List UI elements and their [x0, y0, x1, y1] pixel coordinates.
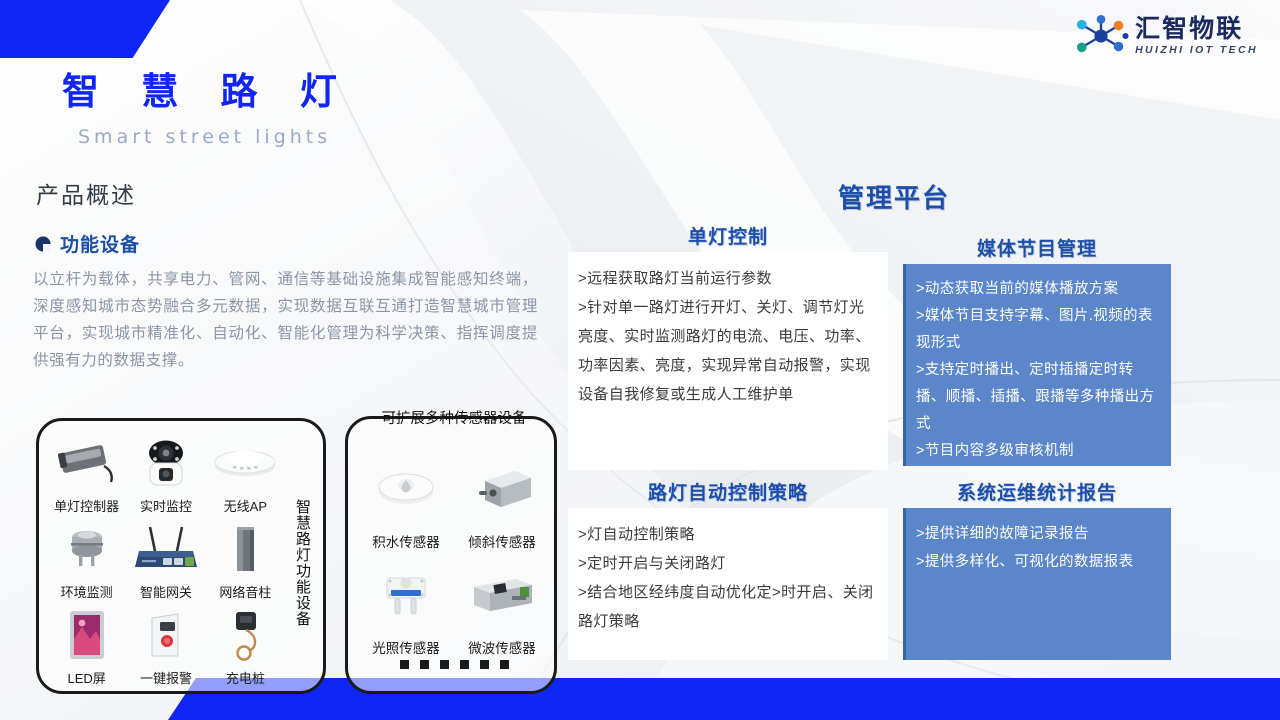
- management-platform-title: 管理平台: [838, 178, 950, 215]
- sensor-box-title: 可扩展多种传感器设备: [348, 407, 560, 428]
- sensor-item: 积水传感器: [358, 445, 454, 551]
- device-item: 充电桩: [206, 601, 285, 687]
- network-speaker-icon: [206, 515, 285, 582]
- device-item: 一键报警: [126, 601, 205, 687]
- panel-title: 单灯控制: [568, 222, 888, 249]
- brand-logo: 汇智物联 HUIZHI IOT TECH: [1073, 14, 1258, 58]
- device-caption: 智能网关: [140, 582, 192, 601]
- page-subtitle: Smart street lights: [78, 126, 331, 148]
- device-caption: 环境监测: [61, 582, 113, 601]
- wireless-ap-icon: [206, 429, 285, 496]
- panel-line: >媒体节目支持字幕、图片.视频的表现形式: [916, 303, 1159, 357]
- page-title: 智 慧 路 灯: [62, 72, 353, 113]
- section-title-product-overview: 产品概述: [36, 176, 136, 210]
- light-sensor-icon: [358, 551, 454, 637]
- device-caption: 一键报警: [140, 668, 192, 687]
- led-screen-icon: [47, 601, 126, 668]
- device-item: 无线AP: [206, 429, 285, 515]
- sensor-item: 微波传感器: [454, 551, 550, 657]
- panel-system-ops-statistics-report: 系统运维统计报告 >提供详细的故障记录报告 >提供多样化、可视化的数据报表: [903, 508, 1171, 660]
- microwave-sensor-icon: [454, 551, 550, 637]
- device-caption: 单灯控制器: [54, 496, 119, 515]
- sensor-item: 倾斜传感器: [454, 445, 550, 551]
- feature-devices-label: 功能设备: [60, 230, 140, 257]
- sensor-caption: 光照传感器: [372, 637, 440, 657]
- sensor-item: 光照传感器: [358, 551, 454, 657]
- device-item: 环境监测: [47, 515, 126, 601]
- device-item: LED屏: [47, 601, 126, 687]
- panel-line: >动态获取当前的媒体播放方案: [916, 276, 1159, 303]
- sensor-caption: 倾斜传感器: [468, 531, 536, 551]
- logo-company-name-cn: 汇智物联: [1135, 16, 1243, 42]
- device-caption: 无线AP: [224, 496, 267, 515]
- panel-body: >提供详细的故障记录报告 >提供多样化、可视化的数据报表: [903, 508, 1171, 660]
- panel-body: >远程获取路灯当前运行参数 >针对单一路灯进行开灯、关灯、调节灯光亮度、实时监测…: [568, 252, 888, 470]
- device-item: 网络音柱: [206, 515, 285, 601]
- panel-title: 路灯自动控制策略: [568, 478, 888, 505]
- cctv-camera-icon: [126, 429, 205, 496]
- panel-line: >提供多样化、可视化的数据报表: [916, 548, 1159, 576]
- logo-company-name-en: HUIZHI IOT TECH: [1135, 44, 1258, 56]
- panel-media-program-management: 媒体节目管理 >动态获取当前的媒体播放方案 >媒体节目支持字幕、图片.视频的表现…: [903, 264, 1171, 466]
- panel-body: >灯自动控制策略 >定时开启与关闭路灯 >结合地区经纬度自动优化定>时开启、关闭…: [568, 508, 888, 660]
- water-level-sensor-icon: [358, 445, 454, 531]
- device-caption: 充电桩: [226, 668, 265, 687]
- device-caption: 网络音柱: [219, 582, 271, 601]
- panel-line: >远程获取路灯当前运行参数: [578, 264, 876, 293]
- sensor-more-dots: [348, 660, 560, 669]
- lamp-controller-icon: [47, 429, 126, 496]
- device-item: 单灯控制器: [47, 429, 126, 515]
- panel-single-lamp-control: 单灯控制 >远程获取路灯当前运行参数 >针对单一路灯进行开灯、关灯、调节灯光亮度…: [568, 252, 888, 470]
- device-item: 实时监控: [126, 429, 205, 515]
- panel-line: >提供详细的故障记录报告: [916, 520, 1159, 548]
- sensor-grid: 积水传感器 倾斜传感器: [358, 445, 550, 657]
- smart-streetlight-device-box: 单灯控制器 实时监控: [36, 418, 326, 694]
- device-box-vertical-label: 智慧路灯功能设备: [289, 445, 315, 681]
- tilt-sensor-icon: [454, 445, 550, 531]
- pie-bullet-icon: [35, 236, 51, 252]
- sensor-caption: 积水传感器: [372, 531, 440, 551]
- emergency-call-icon: [126, 601, 205, 668]
- panel-title: 系统运维统计报告: [903, 478, 1171, 505]
- network-molecule-icon: [1073, 14, 1129, 58]
- panel-line: >针对单一路灯进行开灯、关灯、调节灯光亮度、实时监测路灯的电流、电压、功率、功率…: [578, 293, 876, 409]
- panel-line: >支持定时播出、定时插播定时转播、顺播、插播、跟播等多种播出方式: [916, 357, 1159, 438]
- smart-gateway-icon: [126, 515, 205, 582]
- device-caption: LED屏: [68, 668, 106, 687]
- device-grid: 单灯控制器 实时监控: [47, 429, 285, 687]
- panel-line: >节目内容多级审核机制: [916, 438, 1159, 465]
- device-item: 智能网关: [126, 515, 205, 601]
- panel-line: >结合地区经纬度自动优化定>时开启、关闭路灯策略: [578, 578, 876, 636]
- expandable-sensor-box: 可扩展多种传感器设备 积水传感器: [345, 416, 557, 694]
- panel-title: 媒体节目管理: [903, 234, 1171, 261]
- panel-body: >动态获取当前的媒体播放方案 >媒体节目支持字幕、图片.视频的表现形式 >支持定…: [903, 264, 1171, 466]
- panel-line: >灯自动控制策略: [578, 520, 876, 549]
- sensor-caption: 微波传感器: [468, 637, 536, 657]
- product-overview-paragraph: 以立杆为载体，共享电力、管网、通信等基础设施集成智能感知终端，深度感知城市态势融…: [33, 266, 538, 374]
- feature-devices-heading: 功能设备: [35, 230, 140, 257]
- panel-street-light-auto-control-strategy: 路灯自动控制策略 >灯自动控制策略 >定时开启与关闭路灯 >结合地区经纬度自动优…: [568, 508, 888, 660]
- environment-sensor-icon: [47, 515, 126, 582]
- panel-line: >定时开启与关闭路灯: [578, 549, 876, 578]
- charging-pile-icon: [206, 601, 285, 668]
- device-caption: 实时监控: [140, 496, 192, 515]
